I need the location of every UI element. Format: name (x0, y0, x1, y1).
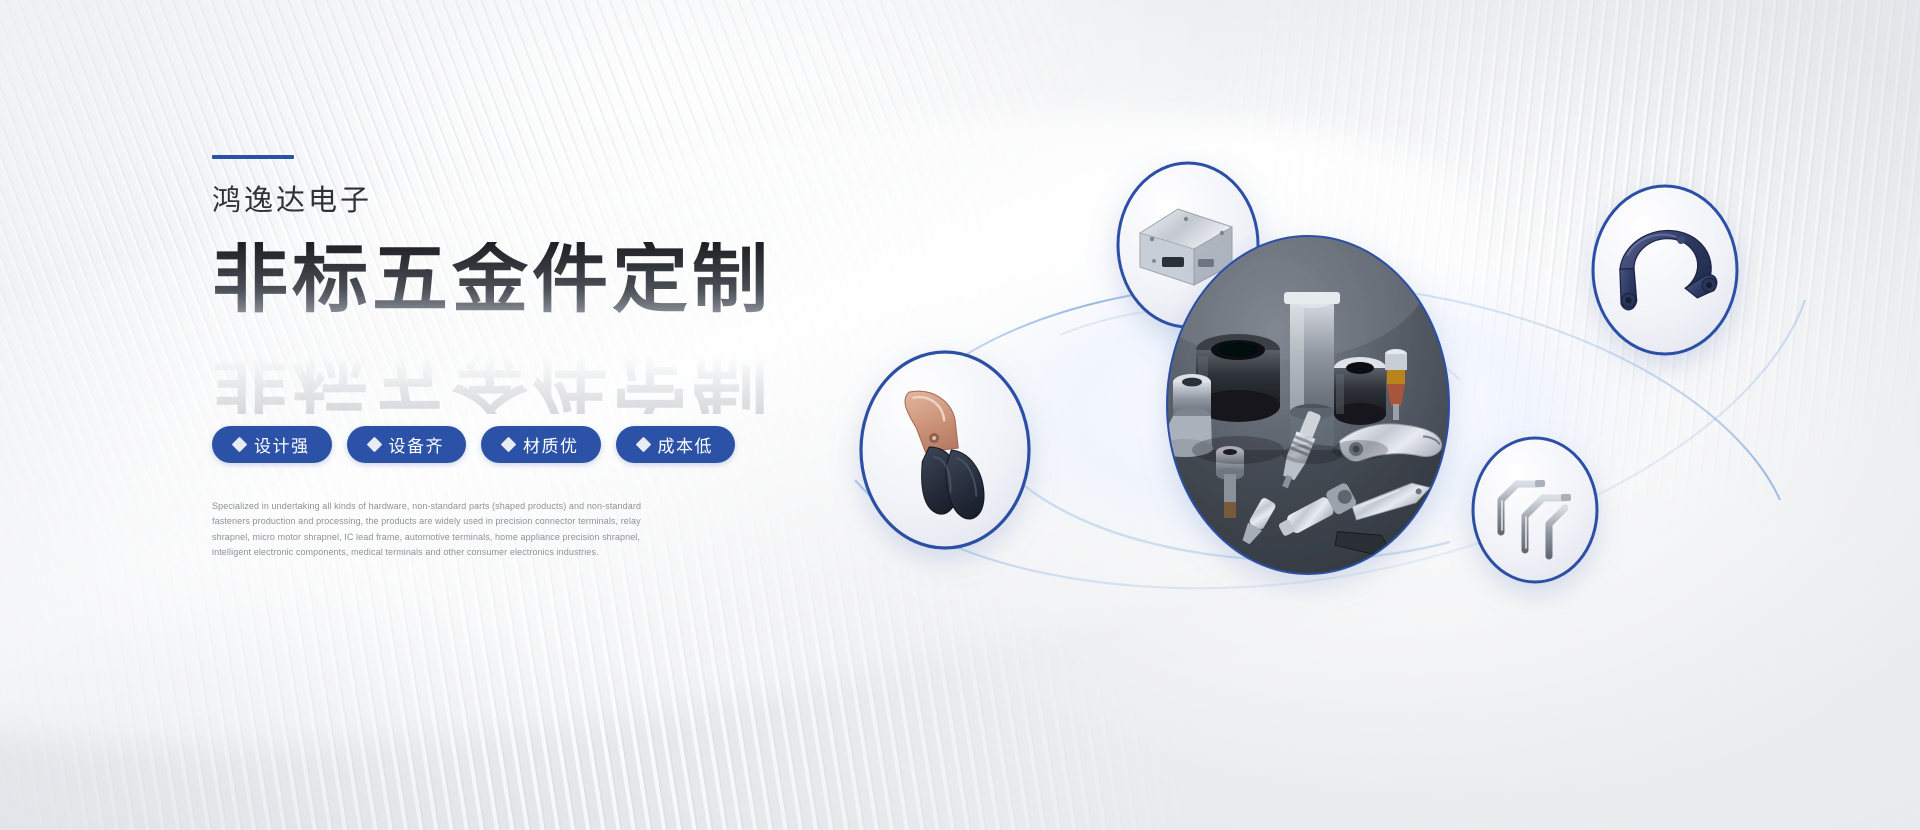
hero-copy: 鸿逸达电子 非标五金件定制 非标五金件定制 设计强 设备齐 材质优 成本低 (212, 155, 832, 570)
showcase-svg (760, 150, 1860, 670)
feature-pill-label: 设计强 (254, 432, 310, 457)
feature-pill-equipment[interactable]: 设备齐 (347, 426, 467, 463)
part-right-socket (1334, 357, 1386, 425)
headline-block: 非标五金件定制 非标五金件定制 (212, 242, 832, 354)
diamond-icon (366, 437, 382, 453)
hero-banner: 鸿逸达电子 非标五金件定制 非标五金件定制 设计强 设备齐 材质优 成本低 (0, 0, 1920, 830)
page-title: 非标五金件定制 (212, 242, 832, 318)
diamond-icon (232, 437, 248, 453)
feature-pill-list: 设计强 设备齐 材质优 成本低 (212, 426, 832, 463)
company-description: Specialized in undertaking all kinds of … (212, 499, 672, 561)
diamond-icon (501, 437, 517, 453)
feature-pill-label: 材质优 (523, 432, 579, 457)
feature-pill-cost[interactable]: 成本低 (616, 426, 736, 463)
accent-rule (212, 155, 294, 159)
feature-pill-label: 设备齐 (389, 432, 445, 457)
feature-pill-design[interactable]: 设计强 (212, 426, 332, 463)
product-showcase (760, 150, 1860, 670)
feature-pill-material[interactable]: 材质优 (481, 426, 601, 463)
headline-reflection: 非标五金件定制 (212, 338, 772, 414)
diamond-icon (635, 437, 651, 453)
bubble-brackets (1473, 438, 1597, 582)
bubble-retainer (1593, 186, 1737, 354)
feature-pill-label: 成本低 (658, 432, 714, 457)
brand-name: 鸿逸达电子 (212, 187, 832, 216)
bubble-clamp (861, 352, 1029, 548)
